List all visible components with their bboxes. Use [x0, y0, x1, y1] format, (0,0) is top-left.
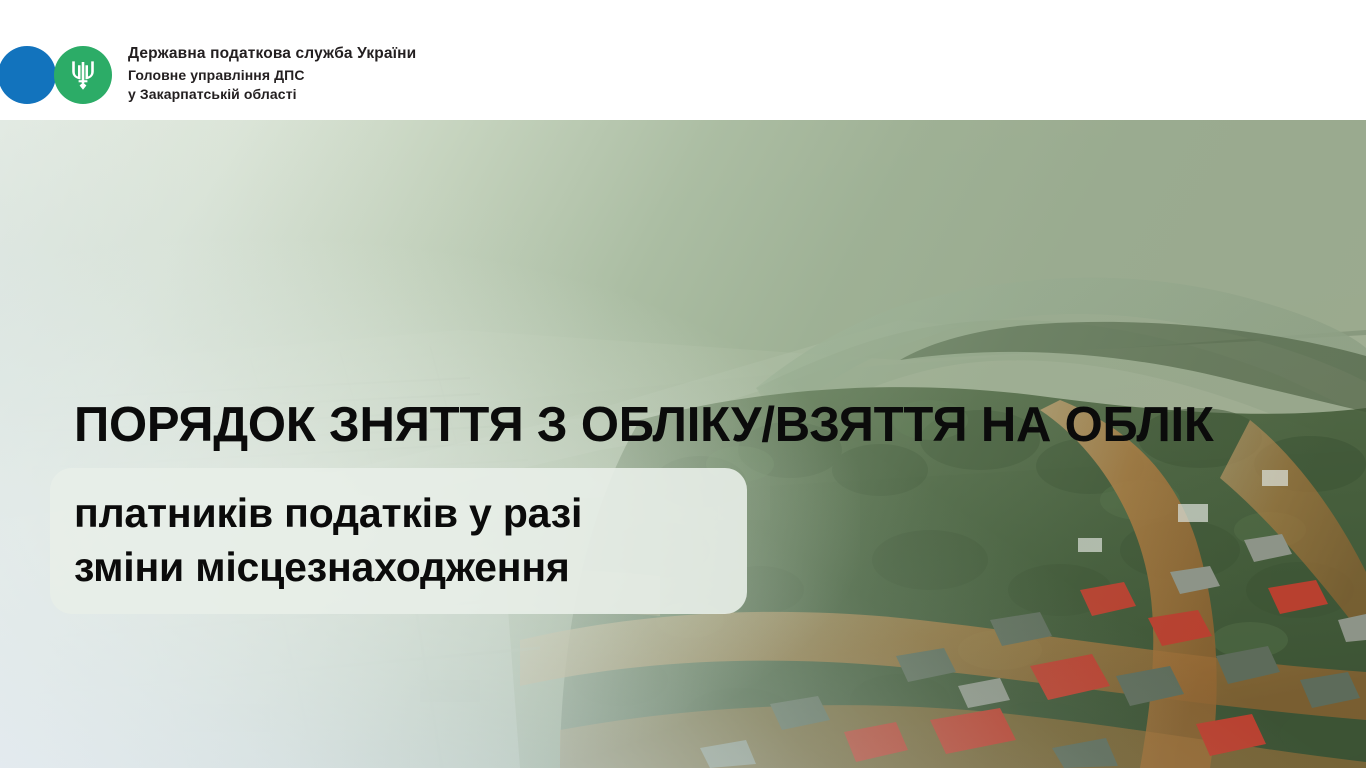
hero-background-photo — [0, 120, 1366, 768]
logo-blue-circle-icon — [0, 46, 56, 104]
organization-name: Державна податкова служба України — [128, 44, 416, 64]
aerial-flood-illustration — [0, 120, 1366, 768]
logo-green-circle-icon — [54, 46, 112, 104]
header-bar: Державна податкова служба України Головн… — [0, 0, 1366, 120]
organization-logo — [0, 46, 120, 108]
ukraine-trident-icon — [70, 59, 96, 91]
header-text-group: Державна податкова служба України Головн… — [128, 44, 416, 104]
slide-page: ПОРЯДОК ЗНЯТТЯ З ОБЛІКУ/ВЗЯТТЯ НА ОБЛІК … — [0, 0, 1366, 768]
department-line-2: у Закарпатській області — [128, 85, 416, 104]
department-line-1: Головне управління ДПС — [128, 66, 416, 85]
